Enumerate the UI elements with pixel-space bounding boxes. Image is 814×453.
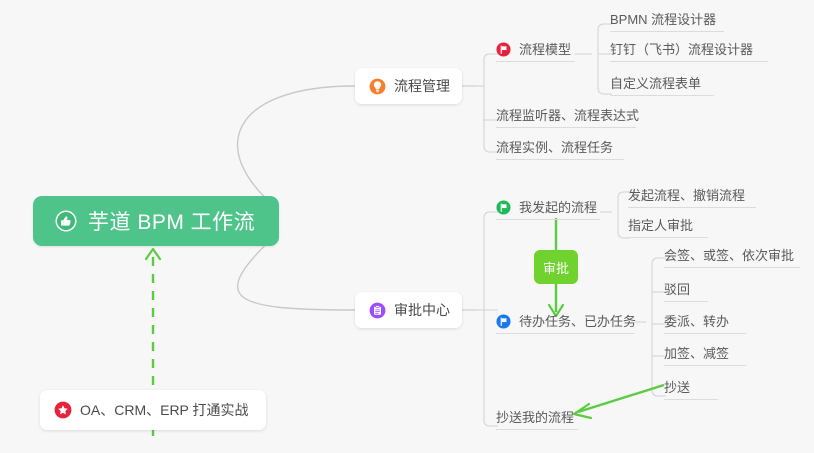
cc-flow-arrow: [574, 385, 664, 418]
footer-node-integration[interactable]: OA、CRM、ERP 打通实战: [40, 390, 266, 430]
node-label: 我发起的流程: [519, 200, 597, 216]
node-label: 抄送: [664, 380, 690, 396]
node-reject[interactable]: 驳回: [664, 280, 708, 302]
node-cc-to-me[interactable]: 抄送我的流程: [496, 408, 578, 430]
node-process-instance[interactable]: 流程实例、流程任务: [496, 138, 624, 160]
thumbs-up-icon: [55, 210, 77, 232]
node-label: 加签、减签: [664, 346, 729, 362]
mindmap-canvas: 芋道 BPM 工作流 流程管理 流程模型 BPMN 流程设计器 钉钉（飞书: [0, 0, 814, 453]
node-add-remove-sign[interactable]: 加签、减签: [664, 344, 746, 366]
node-label: 流程实例、流程任务: [496, 140, 613, 156]
root-label: 芋道 BPM 工作流: [88, 206, 255, 236]
node-todo-done-tasks[interactable]: 待办任务、已办任务: [496, 312, 635, 334]
lightbulb-icon: [369, 78, 386, 95]
branch-node-approval-center[interactable]: 审批中心: [355, 292, 462, 328]
footer-node-label: OA、CRM、ERP 打通实战: [80, 400, 249, 420]
node-start-cancel-process[interactable]: 发起流程、撤销流程: [628, 186, 756, 208]
root-node[interactable]: 芋道 BPM 工作流: [33, 196, 279, 246]
node-dingtalk-designer[interactable]: 钉钉（飞书）流程设计器: [610, 40, 768, 62]
node-assignee-approval[interactable]: 指定人审批: [628, 216, 708, 238]
flag-icon: [496, 200, 511, 215]
node-label: 委派、转办: [664, 314, 729, 330]
node-label: 驳回: [664, 282, 690, 298]
node-my-initiated[interactable]: 我发起的流程: [496, 198, 600, 220]
star-icon: [54, 401, 72, 419]
branch-node-process-management[interactable]: 流程管理: [355, 68, 462, 104]
node-process-listener[interactable]: 流程监听器、流程表达式: [496, 106, 636, 128]
node-bpmn-designer[interactable]: BPMN 流程设计器: [610, 10, 724, 32]
node-countersign[interactable]: 会签、或签、依次审批: [664, 246, 800, 268]
node-custom-form[interactable]: 自定义流程表单: [610, 74, 714, 96]
node-label: 流程模型: [519, 42, 571, 58]
node-label: 会签、或签、依次审批: [664, 248, 794, 264]
flag-icon: [496, 314, 511, 329]
branch-label: 流程管理: [394, 76, 450, 96]
node-label: 抄送我的流程: [496, 410, 574, 426]
node-cc[interactable]: 抄送: [664, 378, 718, 400]
node-label: 指定人审批: [628, 218, 693, 234]
node-process-model[interactable]: 流程模型: [496, 40, 575, 62]
node-label: 自定义流程表单: [610, 76, 701, 92]
node-label: 钉钉（飞书）流程设计器: [610, 42, 753, 58]
node-label: 流程监听器、流程表达式: [496, 108, 639, 124]
node-delegate-transfer[interactable]: 委派、转办: [664, 312, 746, 334]
approval-badge[interactable]: 审批: [534, 250, 578, 284]
flag-icon: [496, 42, 511, 57]
node-label: BPMN 流程设计器: [610, 12, 716, 28]
branch-label: 审批中心: [394, 300, 450, 320]
clipboard-icon: [369, 302, 386, 319]
node-label: 发起流程、撤销流程: [628, 188, 745, 204]
node-label: 待办任务、已办任务: [519, 314, 636, 330]
approval-badge-label: 审批: [543, 258, 569, 277]
